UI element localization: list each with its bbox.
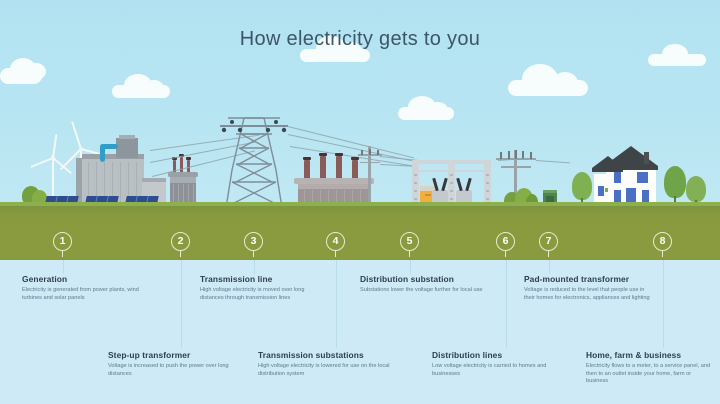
roof-shape: [592, 146, 668, 180]
caption-body: Electricity flows to a meter, to a servi…: [586, 363, 714, 386]
caption-heading: Transmission substations: [258, 350, 400, 360]
cloud-mid-right: [398, 96, 472, 120]
leader-line-5: [410, 260, 411, 274]
caption-body: Low voltage electricity is carried to ho…: [432, 363, 562, 378]
caption-heading: Transmission line: [200, 274, 326, 284]
ground-slope: [0, 206, 720, 228]
step-marker-4[interactable]: 4: [326, 232, 346, 256]
caption-heading: Home, farm & business: [586, 350, 714, 360]
window-upper-left: [614, 172, 621, 183]
marker-band: [0, 228, 720, 260]
marker-tail: [409, 250, 411, 257]
step-number-8: 8: [653, 232, 672, 251]
step-marker-3[interactable]: 3: [244, 232, 264, 256]
marker-tail: [335, 250, 337, 257]
caption-heading: Step-up transformer: [108, 350, 236, 360]
caption-body: Voltage is reduced to the level that peo…: [524, 287, 652, 302]
step-marker-7[interactable]: 7: [539, 232, 559, 256]
cloud-right: [508, 64, 604, 96]
caption-body: Substations lower the voltage further fo…: [360, 287, 496, 295]
window-side-wing: [598, 186, 604, 196]
step-number-3: 3: [244, 232, 263, 251]
caption-body: Voltage is increased to push the power o…: [108, 363, 236, 378]
leader-line-6: [506, 260, 507, 348]
caption-6: Distribution linesLow voltage electricit…: [432, 350, 562, 378]
leader-line-3: [254, 260, 255, 274]
marker-tail: [505, 250, 507, 257]
leader-line-7: [549, 260, 550, 274]
marker-tail: [548, 250, 550, 257]
leader-line-2: [181, 260, 182, 348]
infographic-root: How electricity gets to you: [0, 0, 720, 404]
step-marker-5[interactable]: 5: [400, 232, 420, 256]
caption-heading: Distribution lines: [432, 350, 562, 360]
caption-4: Transmission substationsHigh voltage ele…: [258, 350, 400, 378]
electric-meter: [605, 188, 608, 192]
step-marker-6[interactable]: 6: [496, 232, 516, 256]
cloud-mid-left: [112, 74, 190, 98]
step-number-5: 5: [400, 232, 419, 251]
marker-tail: [62, 250, 64, 257]
leader-line-4: [336, 260, 337, 348]
cloud-left: [0, 58, 70, 84]
marker-tail: [180, 250, 182, 257]
step-number-7: 7: [539, 232, 558, 251]
caption-body: Electricity is generated from power plan…: [22, 287, 150, 302]
caption-3: Transmission lineHigh voltage electricit…: [200, 274, 326, 302]
step-marker-2[interactable]: 2: [171, 232, 191, 256]
distribution-substation-icon: [408, 152, 500, 208]
caption-body: High voltage electricity is lowered for …: [258, 363, 400, 378]
marker-tail: [253, 250, 255, 257]
step-marker-1[interactable]: 1: [53, 232, 73, 256]
transmission-tower-svg: [214, 108, 294, 208]
caption-heading: Pad-mounted transformer: [524, 274, 652, 284]
step-marker-8[interactable]: 8: [653, 232, 673, 256]
caption-5: Distribution substationSubstations lower…: [360, 274, 496, 295]
leader-line-8: [663, 260, 664, 348]
caption-body: High voltage electricity is moved over l…: [200, 287, 326, 302]
window-lower-left: [614, 190, 621, 202]
step-number-4: 4: [326, 232, 345, 251]
transmission-tower-icon: [214, 108, 294, 208]
caption-7: Pad-mounted transformerVoltage is reduce…: [524, 274, 652, 302]
marker-tail: [662, 250, 664, 257]
window-upper-right: [637, 172, 648, 183]
window-lower-right: [642, 190, 649, 202]
caption-heading: Generation: [22, 274, 150, 284]
step-number-6: 6: [496, 232, 515, 251]
utility-pole-mid-icon: [358, 146, 382, 208]
house-icon: [592, 146, 668, 208]
caption-2: Step-up transformerVoltage is increased …: [108, 350, 236, 378]
step-number-2: 2: [171, 232, 190, 251]
step-number-1: 1: [53, 232, 72, 251]
caption-heading: Distribution substation: [360, 274, 496, 284]
caption-1: GenerationElectricity is generated from …: [22, 274, 150, 302]
caption-8: Home, farm & businessElectricity flows t…: [586, 350, 714, 386]
leader-line-1: [63, 260, 64, 274]
page-title: How electricity gets to you: [0, 28, 720, 51]
